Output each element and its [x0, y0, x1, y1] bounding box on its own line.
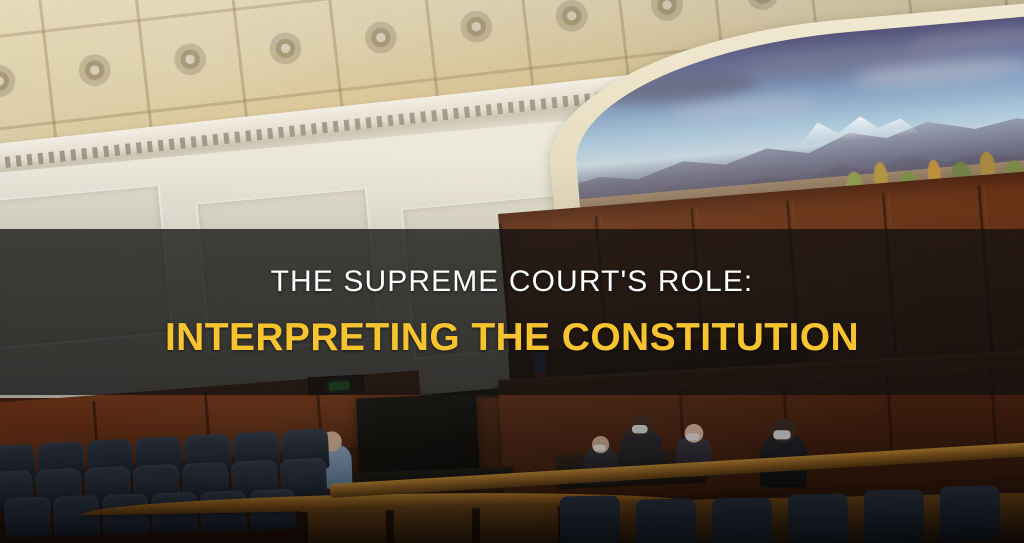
title-line-2: INTERPRETING THE CONSTITUTION — [165, 318, 859, 357]
mural-cloud — [907, 24, 1024, 56]
title-line-1: THE SUPREME COURT'S ROLE: — [271, 267, 754, 297]
seat — [4, 497, 51, 538]
face-mask — [593, 445, 605, 451]
face-mask — [632, 425, 648, 433]
gallery-seat — [864, 489, 925, 543]
gallery-seat — [940, 485, 1001, 542]
face-mask — [773, 430, 790, 439]
seat — [53, 495, 100, 536]
title-overlay-band: THE SUPREME COURT'S ROLE: INTERPRETING T… — [0, 229, 1024, 395]
face-mask — [686, 433, 699, 440]
gallery-seat — [560, 495, 621, 543]
screenshot-canvas: THE SUPREME COURT'S ROLE: INTERPRETING T… — [0, 0, 1024, 543]
gallery-seat — [788, 493, 849, 543]
gallery-seat — [636, 498, 697, 543]
gallery-seat — [712, 497, 773, 543]
